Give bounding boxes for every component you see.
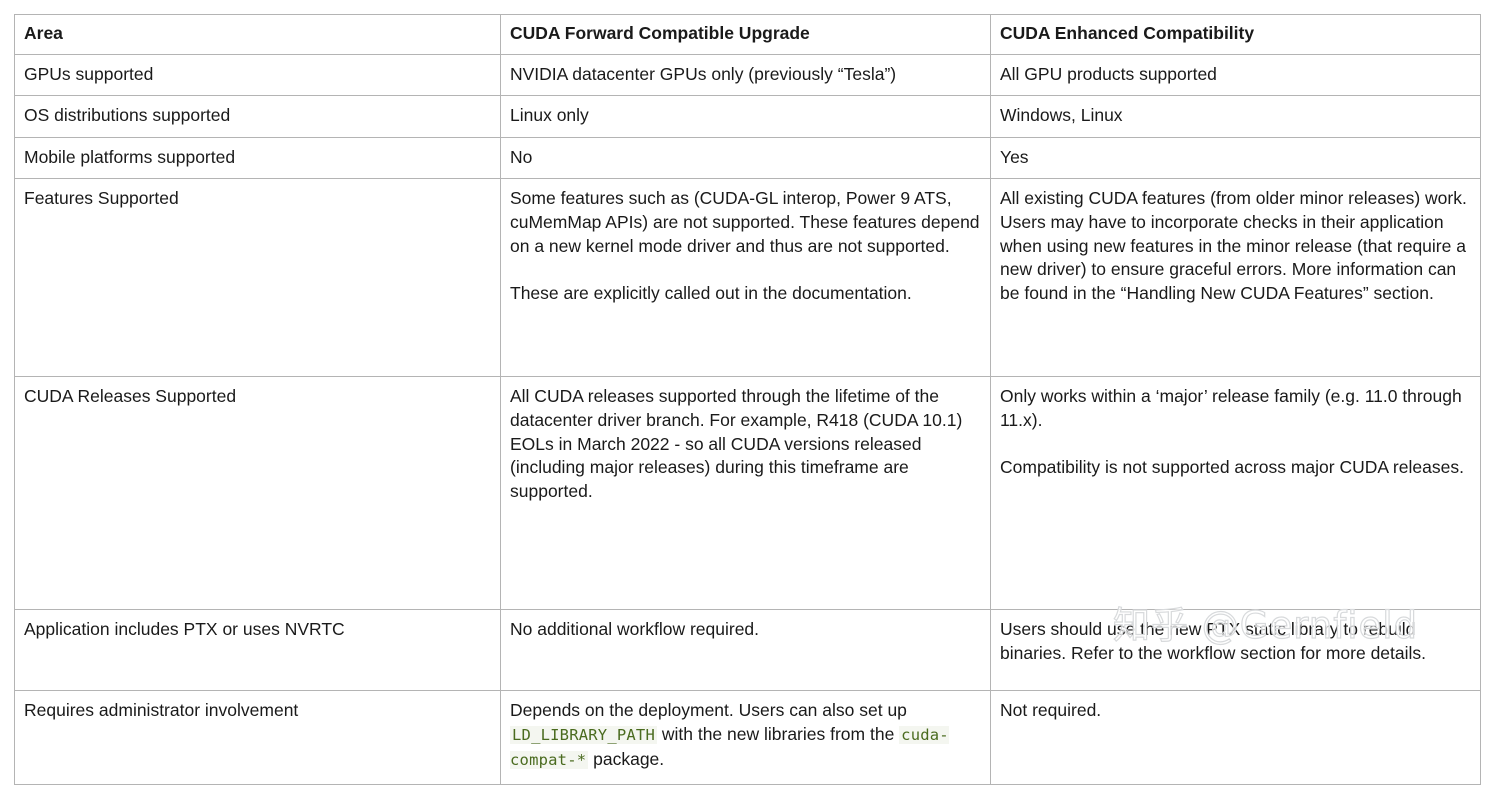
table-body: GPUs supported NVIDIA datacenter GPUs on… <box>15 54 1481 785</box>
cell-enhanced-mobile-platforms: Yes <box>991 137 1481 179</box>
column-header-forward-compatible-upgrade: CUDA Forward Compatible Upgrade <box>501 15 991 55</box>
paragraph: Compatibility is not supported across ma… <box>1000 456 1471 480</box>
text-fragment: package. <box>588 749 664 769</box>
cell-forward-os-distributions: Linux only <box>501 96 991 138</box>
cell-enhanced-requires-administrator: Not required. <box>991 691 1481 785</box>
cell-forward-features-supported: Some features such as (CUDA-GL interop, … <box>501 179 991 377</box>
comparison-table-container: Area CUDA Forward Compatible Upgrade CUD… <box>14 14 1480 785</box>
cell-enhanced-features-supported: All existing CUDA features (from older m… <box>991 179 1481 377</box>
table-row: GPUs supported NVIDIA datacenter GPUs on… <box>15 54 1481 96</box>
table-row: Application includes PTX or uses NVRTC N… <box>15 610 1481 691</box>
paragraph: Only works within a ‘major’ release fami… <box>1000 385 1471 432</box>
table-header-row: Area CUDA Forward Compatible Upgrade CUD… <box>15 15 1481 55</box>
text-fragment: with the new libraries from the <box>657 724 899 744</box>
table-header: Area CUDA Forward Compatible Upgrade CUD… <box>15 15 1481 55</box>
cell-forward-requires-administrator: Depends on the deployment. Users can als… <box>501 691 991 785</box>
column-header-area: Area <box>15 15 501 55</box>
cell-forward-application-ptx: No additional workflow required. <box>501 610 991 691</box>
row-label-mobile-platforms-supported: Mobile platforms supported <box>15 137 501 179</box>
cell-forward-mobile-platforms: No <box>501 137 991 179</box>
cell-enhanced-application-ptx: Users should use the new PTX static libr… <box>991 610 1481 691</box>
cell-forward-cuda-releases: All CUDA releases supported through the … <box>501 377 991 610</box>
paragraph: Some features such as (CUDA-GL interop, … <box>510 187 981 258</box>
table-row: CUDA Releases Supported All CUDA release… <box>15 377 1481 610</box>
row-label-cuda-releases-supported: CUDA Releases Supported <box>15 377 501 610</box>
row-label-features-supported: Features Supported <box>15 179 501 377</box>
code-ld-library-path: LD_LIBRARY_PATH <box>510 726 657 744</box>
row-label-os-distributions-supported: OS distributions supported <box>15 96 501 138</box>
cell-enhanced-os-distributions: Windows, Linux <box>991 96 1481 138</box>
row-label-application-includes-ptx: Application includes PTX or uses NVRTC <box>15 610 501 691</box>
cuda-compatibility-comparison-table: Area CUDA Forward Compatible Upgrade CUD… <box>14 14 1481 785</box>
table-row: Features Supported Some features such as… <box>15 179 1481 377</box>
cell-enhanced-cuda-releases: Only works within a ‘major’ release fami… <box>991 377 1481 610</box>
text-fragment: Depends on the deployment. Users can als… <box>510 700 907 720</box>
row-label-requires-administrator-involvement: Requires administrator involvement <box>15 691 501 785</box>
table-row: Requires administrator involvement Depen… <box>15 691 1481 785</box>
table-row: OS distributions supported Linux only Wi… <box>15 96 1481 138</box>
cell-forward-gpus-supported: NVIDIA datacenter GPUs only (previously … <box>501 54 991 96</box>
paragraph: These are explicitly called out in the d… <box>510 282 981 306</box>
cell-enhanced-gpus-supported: All GPU products supported <box>991 54 1481 96</box>
row-label-gpus-supported: GPUs supported <box>15 54 501 96</box>
column-header-enhanced-compatibility: CUDA Enhanced Compatibility <box>991 15 1481 55</box>
table-row: Mobile platforms supported No Yes <box>15 137 1481 179</box>
